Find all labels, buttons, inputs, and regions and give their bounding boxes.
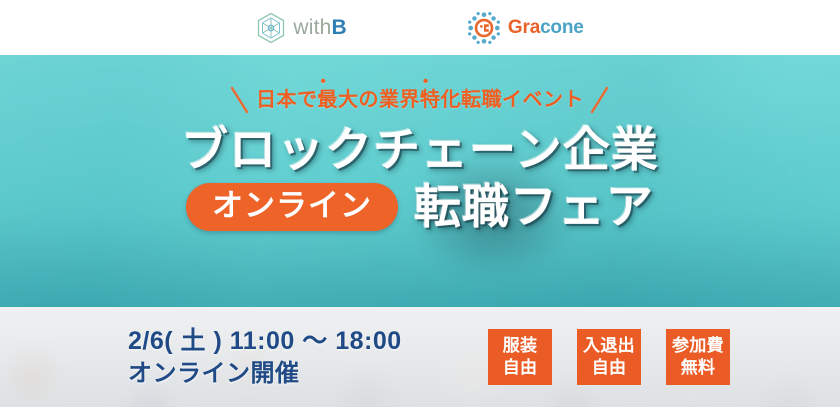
badge-dress-code: 服装 自由 — [488, 329, 552, 385]
logo-gracone-text-part1: Gra — [508, 17, 540, 38]
event-format: オンライン開催 — [128, 358, 402, 390]
gear-sun-icon — [467, 11, 501, 45]
slash-left-icon — [230, 85, 250, 115]
title-line-1: ブロックチェーン企業 — [181, 125, 659, 174]
hero-headline: 日本で最大の業界特化転職イベント ブロックチェーン企業 オンライン 転職フェア — [0, 55, 840, 307]
badge-fee: 参加費 無料 — [666, 329, 730, 385]
logo-bar: withB Gracone — [0, 0, 840, 55]
title-line-2: 転職フェア — [414, 182, 654, 231]
tagline-seg-3-emphasized: 特化 — [420, 89, 461, 111]
title-line-2-row: オンライン 転職フェア — [186, 182, 654, 231]
event-date-time: 2/6( 土 ) 11:00 ～ 18:00 — [128, 325, 402, 358]
tagline-seg-4: 転職イベント — [461, 89, 584, 111]
slash-right-icon — [590, 85, 610, 115]
info-strip: 2/6( 土 ) 11:00 ～ 18:00 オンライン開催 服装 自由 入退出… — [0, 307, 840, 407]
badge-entry-exit-bottom: 自由 — [592, 357, 627, 379]
logo-gracone[interactable]: Gracone — [467, 11, 584, 45]
tagline-row: 日本で最大の業界特化転職イベント — [230, 85, 610, 115]
badge-fee-bottom: 無料 — [681, 357, 716, 379]
online-badge: オンライン — [186, 183, 398, 232]
logo-gracone-text-part2: cone — [540, 17, 584, 38]
info-strip-content: 2/6( 土 ) 11:00 ～ 18:00 オンライン開催 服装 自由 入退出… — [0, 307, 840, 407]
event-datetime: 2/6( 土 ) 11:00 ～ 18:00 オンライン開催 — [128, 325, 402, 390]
badge-dress-code-top: 服装 — [503, 335, 538, 357]
event-banner: withB Gracone — [0, 0, 840, 407]
tagline-seg-0: 日本で — [256, 89, 318, 111]
logo-withb-text: withB — [293, 16, 347, 40]
tagline-seg-1-emphasized: 最大 — [318, 89, 359, 111]
badge-fee-top: 参加費 — [672, 335, 724, 357]
logo-withb-text-bold: B — [332, 16, 347, 39]
badge-entry-exit: 入退出 自由 — [577, 329, 641, 385]
logo-gracone-text: Gracone — [508, 17, 584, 39]
logo-withb-text-light: with — [293, 16, 331, 39]
tagline-seg-2: の業界 — [359, 89, 421, 111]
logo-withb[interactable]: withB — [256, 12, 347, 44]
hexagon-blockchain-icon — [256, 12, 286, 44]
tagline: 日本で最大の業界特化転職イベント — [256, 89, 584, 111]
badge-dress-code-bottom: 自由 — [503, 357, 538, 379]
badge-entry-exit-top: 入退出 — [583, 335, 635, 357]
feature-badges: 服装 自由 入退出 自由 参加費 無料 — [488, 329, 730, 385]
